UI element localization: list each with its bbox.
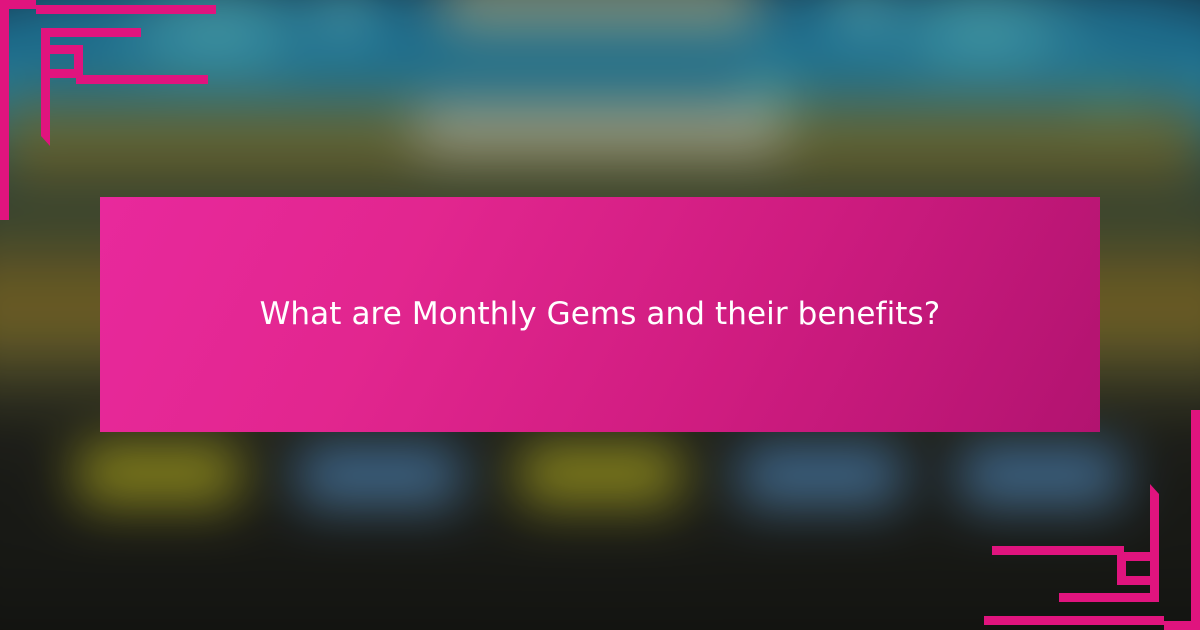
backdrop-sparkle-b xyxy=(822,0,900,54)
backdrop-rewards-label xyxy=(417,109,783,156)
backdrop-victory-label xyxy=(443,0,756,32)
backdrop-victory-wing-left xyxy=(91,0,300,76)
backdrop-reward-card xyxy=(519,449,681,514)
backdrop-reward-card xyxy=(740,449,902,514)
backdrop-reward-card-row xyxy=(78,449,1122,514)
backdrop-sparkle-a xyxy=(313,0,378,54)
backdrop-victory-wing-right xyxy=(900,0,1109,76)
backdrop-reward-card xyxy=(960,449,1122,514)
question-title: What are Monthly Gems and their benefits… xyxy=(260,294,941,336)
question-card-stage: What are Monthly Gems and their benefits… xyxy=(0,0,1200,630)
backdrop-reward-card xyxy=(298,449,460,514)
backdrop-reward-card xyxy=(78,449,240,514)
question-banner: What are Monthly Gems and their benefits… xyxy=(100,197,1100,432)
